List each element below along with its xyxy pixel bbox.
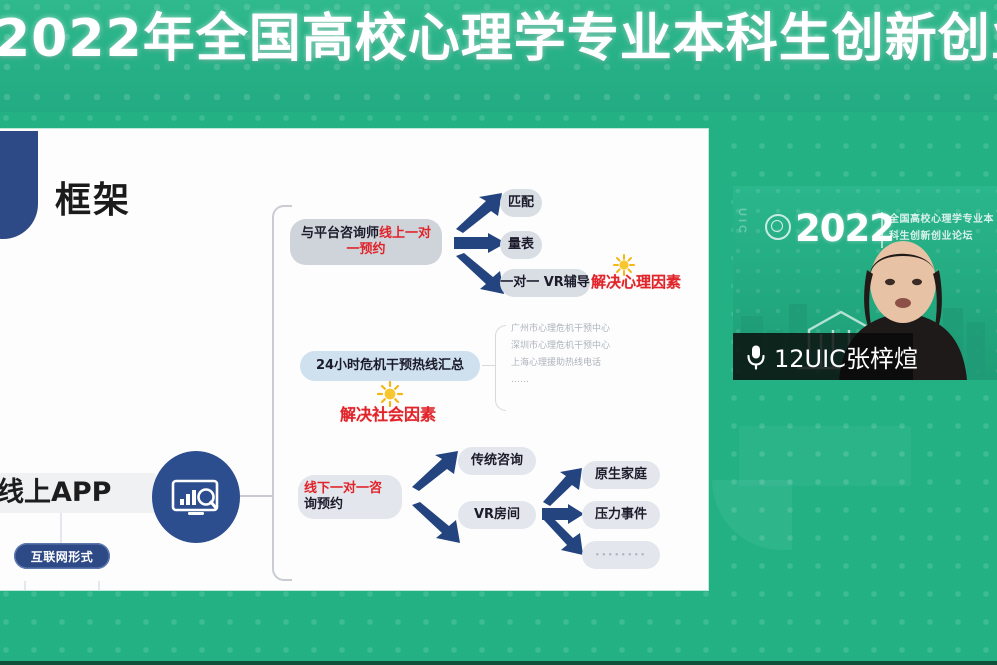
node-label-plain: 询预约	[304, 497, 343, 512]
node-label: 量表	[508, 237, 534, 253]
tile-overlay-divider	[881, 212, 883, 248]
node-family-of-origin: 原生家庭	[582, 461, 660, 489]
tile-overlay-subtitle: 全国高校心理学专业本科生创新创业论坛	[889, 211, 997, 245]
hotline-item: 上海心理援助热线电话	[511, 355, 610, 372]
arrow-to-other	[540, 517, 588, 559]
node-match: 匹配	[500, 189, 542, 217]
node-vr-tutoring: 一对一 VR辅导	[500, 269, 590, 297]
node-label: 一对一 VR辅导	[500, 275, 590, 291]
node-label: 24小时危机干预热线汇总	[316, 358, 464, 374]
node-online-counselor: 与平台咨询师线上一对一预约	[290, 219, 442, 265]
node-label-highlight: 线下一对一咨	[304, 481, 382, 496]
node-stress-event: 压力事件	[582, 501, 660, 529]
root-node-label: 新线上APP	[0, 476, 160, 510]
participant-name-label: 12UIC张梓煊	[774, 339, 918, 374]
arrow-to-family-of-origin	[540, 466, 586, 506]
arrow-to-traditional-counseling	[408, 449, 464, 491]
node-label: 原生家庭	[595, 467, 647, 483]
node-label: VR房间	[474, 507, 520, 523]
node-traditional-counseling: 传统咨询	[458, 447, 536, 475]
connector-line	[60, 513, 62, 543]
hotline-item: 深圳市心理危机干预中心	[511, 338, 610, 355]
slide-title: 框架	[55, 171, 131, 223]
connector-line	[98, 581, 100, 590]
participant-name-bar: 12UIC张梓煊	[733, 333, 913, 380]
root-bracket-stem	[240, 495, 274, 497]
background-ghost-panel	[739, 426, 911, 486]
callout-social-factor: 解决社会因素	[340, 401, 436, 425]
conference-banner-title: 2022年全国高校心理学专业本科生创新创业论	[0, 8, 997, 70]
arrow-to-vr-room	[408, 503, 466, 547]
tile-side-branding: UIC	[736, 208, 748, 236]
node-crisis-hotline: 24小时危机干预热线汇总	[300, 351, 480, 381]
connector-line	[24, 581, 26, 590]
monitor-analytics-icon	[171, 479, 223, 519]
microphone-icon[interactable]	[745, 344, 767, 370]
node-label: 传统咨询	[471, 453, 523, 469]
conference-banner: 2022年全国高校心理学专业本科生创新创业论	[0, 0, 997, 112]
hotline-bracket	[495, 325, 506, 411]
node-other-placeholder: ••••••••	[582, 541, 660, 569]
node-scale: 量表	[500, 231, 542, 259]
node-label: 压力事件	[595, 507, 647, 523]
meeting-screen-share-view: 2022年全国高校心理学专业本科生创新创业论 框架 新线上APP	[0, 0, 997, 665]
bottom-edge-shadow	[0, 661, 997, 665]
shared-slide[interactable]: 框架 新线上APP 互	[0, 129, 708, 590]
pill-label: 互联网形式	[31, 548, 94, 565]
hotline-item: ……	[511, 372, 610, 389]
node-label: ••••••••	[595, 551, 647, 560]
hotline-stem	[482, 365, 496, 366]
callout-psychological-factor: 解决心理因素	[591, 271, 681, 292]
hotline-item: 广州市心理危机干预中心	[511, 321, 610, 338]
conference-emblem-icon	[765, 214, 791, 240]
slide-canvas: 框架 新线上APP 互	[0, 129, 708, 590]
node-label: 匹配	[508, 195, 534, 211]
node-vr-room: VR房间	[458, 501, 536, 529]
main-bracket	[272, 205, 292, 581]
pill-internet-form: 互联网形式	[14, 543, 110, 569]
tile-overlay-year: 2022	[795, 207, 894, 250]
arrow-to-match	[452, 191, 508, 233]
node-label-plain: 与平台咨询师	[301, 226, 379, 241]
node-offline-booking: 线下一对一咨 询预约	[298, 475, 402, 519]
slide-decoration-tab	[0, 131, 38, 239]
hotline-list: 广州市心理危机干预中心 深圳市心理危机干预中心 上海心理援助热线电话 ……	[511, 321, 610, 389]
